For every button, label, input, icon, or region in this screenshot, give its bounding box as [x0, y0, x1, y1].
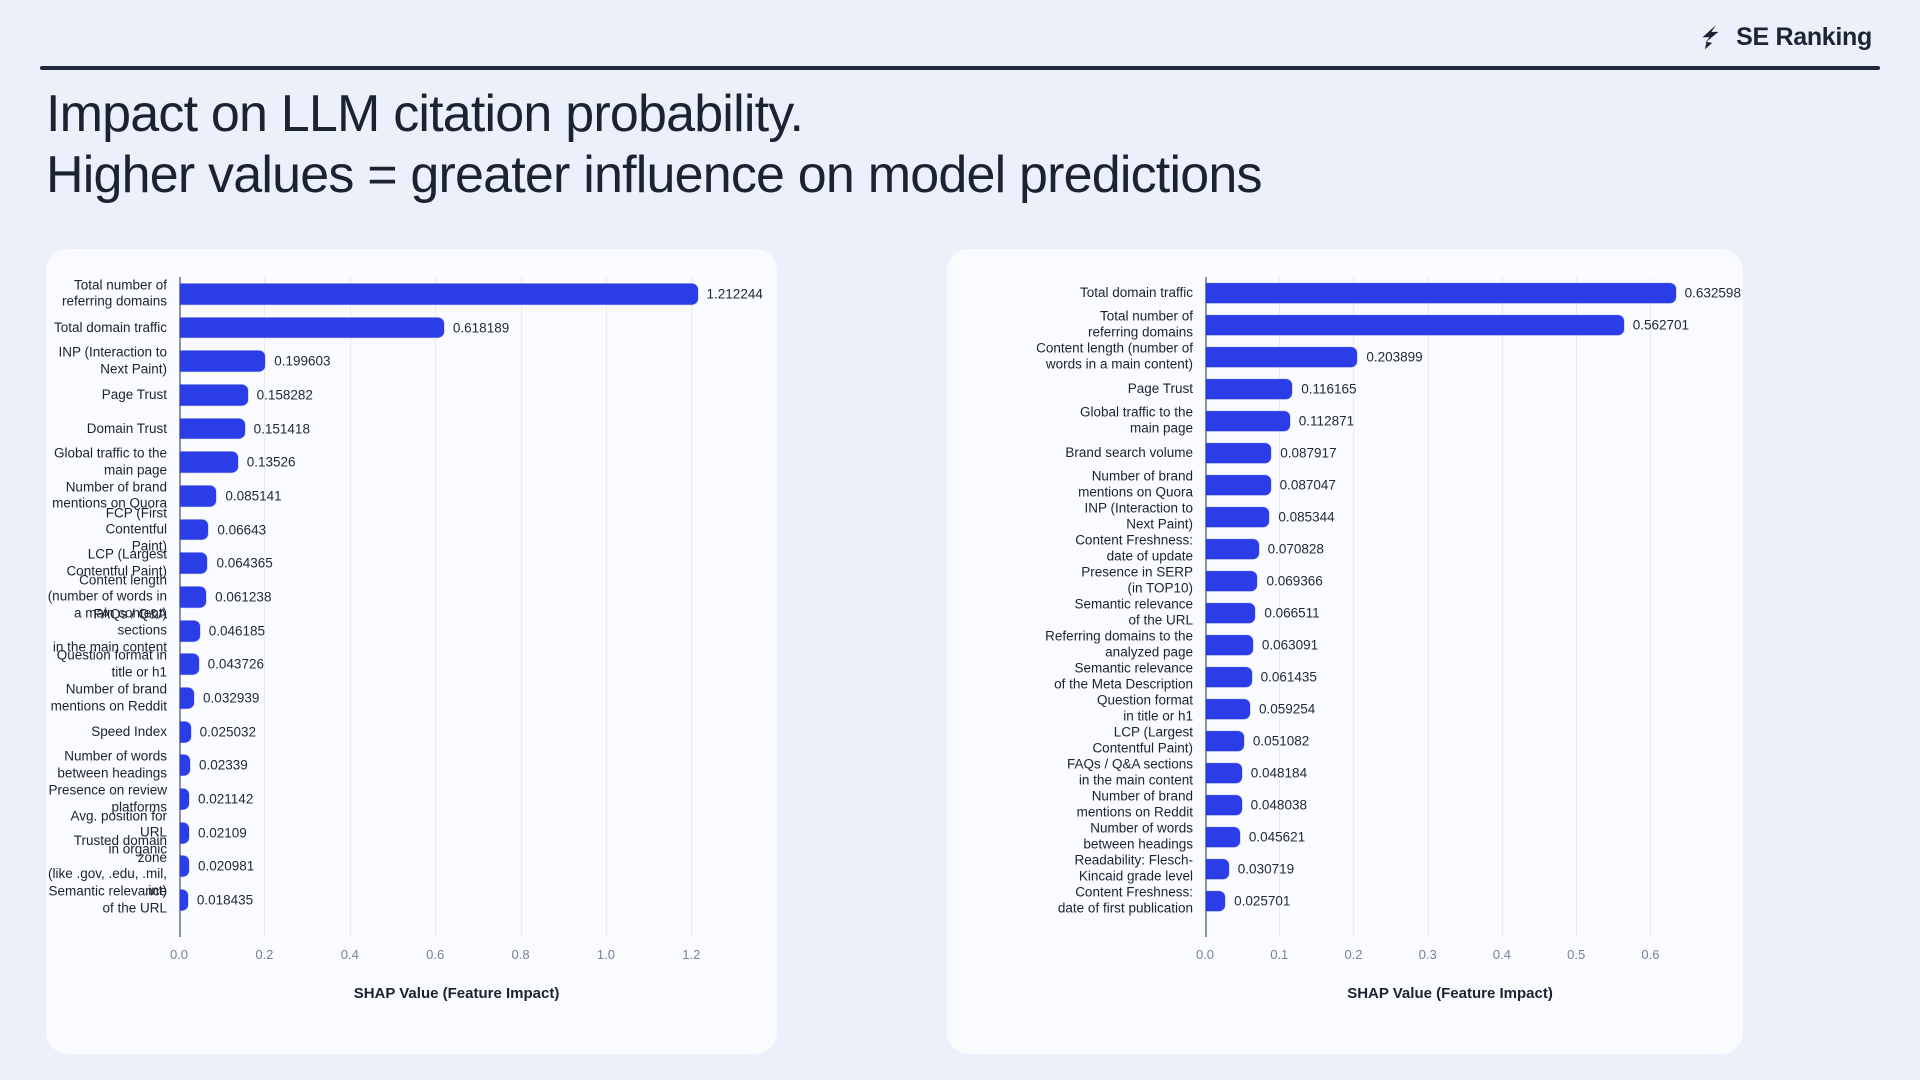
bar-value-label: 0.087047 — [1280, 478, 1336, 493]
bar-value-label: 0.112871 — [1299, 414, 1354, 429]
bar — [180, 755, 190, 776]
category-label: Total number of referring domains — [42, 277, 167, 310]
bar-value-label: 0.061435 — [1261, 670, 1317, 685]
bar — [1206, 763, 1242, 783]
category-label: Domain Trust — [42, 420, 167, 436]
bar — [180, 283, 698, 304]
page-title: Impact on LLM citation probability. High… — [46, 84, 1262, 207]
category-label: Total number of referring domains — [943, 309, 1193, 342]
category-label: Content Freshness: date of first publica… — [943, 885, 1193, 918]
bar-value-label: 0.069366 — [1266, 574, 1322, 589]
x-axis-tick: 0.6 — [426, 947, 444, 962]
bar-value-label: 0.032939 — [203, 691, 259, 706]
bar — [1206, 443, 1271, 463]
bar-value-label: 0.020981 — [198, 859, 254, 874]
chart-bar-row: Number of words between headings0.045621 — [1205, 821, 1695, 853]
category-label: INP (Interaction to Next Paint) — [943, 501, 1193, 534]
x-axis-tick: 1.2 — [682, 947, 700, 962]
bar — [1206, 795, 1242, 815]
bar-value-label: 0.158282 — [257, 387, 313, 402]
category-label: Content Freshness: date of update — [943, 533, 1193, 566]
chart-bar-row: Page Trust0.158282 — [179, 378, 734, 412]
bar — [180, 789, 189, 810]
chart-bar-row: INP (Interaction to Next Paint)0.199603 — [179, 344, 734, 378]
category-label: Number of brand mentions on Reddit — [42, 682, 167, 715]
bar — [1206, 667, 1252, 687]
chart-bar-row: Semantic relevance of the URL0.066511 — [1205, 597, 1695, 629]
chart-plot-aimode: Total domain traffic0.632598Total number… — [1205, 277, 1695, 917]
bar-value-label: 0.06643 — [217, 522, 266, 537]
category-label: Content length (number of words in a mai… — [943, 341, 1193, 374]
chart-bar-row: Global traffic to the main page0.13526 — [179, 445, 734, 479]
bar-value-label: 0.151418 — [254, 421, 310, 436]
bar-value-label: 0.051082 — [1253, 734, 1309, 749]
chart-bar-row: Number of brand mentions on Reddit0.0480… — [1205, 789, 1695, 821]
bar-value-label: 0.048038 — [1251, 798, 1307, 813]
bar — [180, 317, 444, 338]
category-label: Readability: Flesch- Kincaid grade level — [943, 853, 1193, 886]
chart-bar-row: Number of brand mentions on Reddit0.0329… — [179, 681, 734, 715]
bar — [180, 688, 194, 709]
chart-bar-row: Number of brand mentions on Quora0.08514… — [179, 479, 734, 513]
bar-value-label: 0.021142 — [198, 792, 253, 807]
bar — [180, 351, 265, 372]
bar — [180, 890, 188, 911]
chart-bar-row: Semantic relevance of the URL0.018435 — [179, 883, 734, 917]
category-label: Number of brand mentions on Reddit — [943, 789, 1193, 822]
x-axis-tick: 0.0 — [170, 947, 188, 962]
chart-bar-row: Number of words between headings0.02339 — [179, 749, 734, 783]
chart-bar-row: Global traffic to the main page0.112871 — [1205, 405, 1695, 437]
bar-value-label: 0.025032 — [200, 724, 256, 739]
chart-bar-row: Presence on review platforms0.021142 — [179, 782, 734, 816]
chart-bar-row: Total domain traffic0.618189 — [179, 311, 734, 345]
chart-bar-row: Speed Index0.025032 — [179, 715, 734, 749]
x-axis-label: SHAP Value (Feature Impact) — [179, 985, 734, 1002]
category-label: FAQs / Q&A sections in the main content — [943, 757, 1193, 790]
chart-card-aimode: Total domain traffic0.632598Total number… — [947, 249, 1743, 1054]
category-label: INP (Interaction to Next Paint) — [42, 345, 167, 378]
chart-bar-row: FAQs / Q&A sections in the main content0… — [179, 614, 734, 648]
bar — [180, 587, 206, 608]
bar — [1206, 507, 1269, 527]
chart-bar-row: Readability: Flesch- Kincaid grade level… — [1205, 853, 1695, 885]
bar — [1206, 891, 1225, 911]
chart-bar-row: Number of brand mentions on Quora0.08704… — [1205, 469, 1695, 501]
bar-value-label: 0.085344 — [1278, 510, 1334, 525]
bar-value-label: 0.562701 — [1633, 318, 1689, 333]
x-axis-tick: 0.8 — [511, 947, 529, 962]
bar-value-label: 0.02339 — [199, 758, 248, 773]
bar-value-label: 0.030719 — [1238, 862, 1294, 877]
x-axis-label: SHAP Value (Feature Impact) — [1205, 985, 1695, 1002]
x-axis-tick: 0.4 — [1493, 947, 1511, 962]
bar-value-label: 0.087917 — [1280, 446, 1336, 461]
bar — [180, 553, 207, 574]
chart-bar-row: Content length (number of words in a mai… — [179, 580, 734, 614]
chart-bar-row: Presence in SERP (in TOP10)0.069366 — [1205, 565, 1695, 597]
category-label: Global traffic to the main page — [943, 405, 1193, 438]
category-label: Question format in title or h1 — [42, 648, 167, 681]
bar — [180, 822, 189, 843]
chart-bar-row: Domain Trust0.151418 — [179, 412, 734, 446]
chart-bar-row: INP (Interaction to Next Paint)0.085344 — [1205, 501, 1695, 533]
chart-bar-row: FCP (First Contentful Paint)0.06643 — [179, 513, 734, 547]
bar-value-label: 0.046185 — [209, 623, 265, 638]
bar — [1206, 347, 1357, 367]
bar — [1206, 411, 1290, 431]
bar — [1206, 731, 1244, 751]
category-label: Semantic relevance of the Meta Descripti… — [943, 661, 1193, 694]
x-axis-tick: 0.0 — [1196, 947, 1214, 962]
category-label: Page Trust — [42, 387, 167, 403]
chart-bar-row: Content Freshness: date of update0.07082… — [1205, 533, 1695, 565]
bar-value-label: 0.045621 — [1249, 830, 1305, 845]
chart-bar-row: Avg. position for URL in organic0.02109 — [179, 816, 734, 850]
category-label: Number of words between headings — [943, 821, 1193, 854]
bar — [180, 856, 189, 877]
bar-value-label: 0.085141 — [225, 488, 281, 503]
chart-bar-row: Referring domains to the analyzed page0.… — [1205, 629, 1695, 661]
bar-value-label: 0.061238 — [215, 589, 271, 604]
bar — [180, 452, 238, 473]
bar — [1206, 603, 1255, 623]
bar-value-label: 0.025701 — [1234, 894, 1290, 909]
x-axis-tick: 0.2 — [1344, 947, 1362, 962]
bar — [1206, 283, 1676, 303]
bar — [1206, 635, 1253, 655]
x-axis-tick: 1.0 — [597, 947, 615, 962]
bar-value-label: 1.212244 — [707, 286, 763, 301]
x-axis-tick: 0.6 — [1641, 947, 1659, 962]
category-label: Question format in title or h1 — [943, 693, 1193, 726]
bar — [1206, 571, 1257, 591]
bar — [180, 721, 191, 742]
bar-value-label: 0.063091 — [1262, 638, 1318, 653]
bar — [1206, 827, 1240, 847]
bar — [180, 485, 216, 506]
chart-bar-row: Trusted domain zone (like .gov, .edu, .m… — [179, 850, 734, 884]
chart-bar-row: FAQs / Q&A sections in the main content0… — [1205, 757, 1695, 789]
brand-name: SE Ranking — [1736, 25, 1872, 50]
chart-card-chatgpt: Total number of referring domains1.21224… — [46, 249, 777, 1054]
chart-bar-row: Question format in title or h10.059254 — [1205, 693, 1695, 725]
poster-root: SE Ranking Impact on LLM citation probab… — [0, 0, 1920, 1080]
x-axis-tick: 0.3 — [1419, 947, 1437, 962]
bar-value-label: 0.13526 — [247, 455, 296, 470]
bar-value-label: 0.116165 — [1301, 382, 1356, 397]
category-label: Number of brand mentions on Quora — [943, 469, 1193, 502]
category-label: Referring domains to the analyzed page — [943, 629, 1193, 662]
category-label: Page Trust — [943, 381, 1193, 397]
bar — [1206, 699, 1250, 719]
category-label: Number of words between headings — [42, 749, 167, 782]
bar-value-label: 0.066511 — [1264, 606, 1319, 621]
chart-bar-row: Total number of referring domains1.21224… — [179, 277, 734, 311]
bar-value-label: 0.199603 — [274, 354, 330, 369]
category-label: Global traffic to the main page — [42, 446, 167, 479]
bar — [180, 620, 200, 641]
chart-bar-row: Total number of referring domains0.56270… — [1205, 309, 1695, 341]
bar-value-label: 0.059254 — [1259, 702, 1315, 717]
chart-plot-chatgpt: Total number of referring domains1.21224… — [179, 277, 734, 917]
bar — [180, 418, 245, 439]
category-label: Semantic relevance of the URL — [943, 597, 1193, 630]
chart-bar-row: Semantic relevance of the Meta Descripti… — [1205, 661, 1695, 693]
bar-value-label: 0.203899 — [1366, 350, 1422, 365]
bar-value-label: 0.043726 — [208, 657, 264, 672]
category-label: Total domain traffic — [943, 285, 1193, 301]
bar-value-label: 0.632598 — [1685, 286, 1741, 301]
bar — [1206, 475, 1271, 495]
bar — [180, 654, 199, 675]
chart-bar-row: Content Freshness: date of first publica… — [1205, 885, 1695, 917]
x-axis-tick: 0.5 — [1567, 947, 1585, 962]
chart-bar-row: LCP (Largest Contentful Paint)0.064365 — [179, 546, 734, 580]
category-label: Presence in SERP (in TOP10) — [943, 565, 1193, 598]
x-axis-tick: 0.2 — [255, 947, 273, 962]
bar — [1206, 859, 1229, 879]
category-label: Brand search volume — [943, 445, 1193, 461]
category-label: Semantic relevance of the URL — [42, 884, 167, 917]
chart-bar-row: Question format in title or h10.043726 — [179, 648, 734, 682]
chart-bar-row: LCP (Largest Contentful Paint)0.051082 — [1205, 725, 1695, 757]
bar-value-label: 0.02109 — [198, 825, 247, 840]
bar — [1206, 379, 1292, 399]
bar — [180, 384, 248, 405]
chart-bar-row: Total domain traffic0.632598 — [1205, 277, 1695, 309]
bar — [180, 519, 208, 540]
chart-bar-row: Content length (number of words in a mai… — [1205, 341, 1695, 373]
bar — [1206, 315, 1624, 335]
x-axis-tick: 0.4 — [341, 947, 359, 962]
bar-value-label: 0.070828 — [1268, 542, 1324, 557]
bar-value-label: 0.018435 — [197, 893, 253, 908]
brand-logo: SE Ranking — [1696, 22, 1872, 52]
bar-value-label: 0.048184 — [1251, 766, 1307, 781]
bar — [1206, 539, 1259, 559]
category-label: Total domain traffic — [42, 319, 167, 335]
header-divider — [40, 66, 1880, 70]
chart-bar-row: Brand search volume0.087917 — [1205, 437, 1695, 469]
header: SE Ranking — [0, 0, 1920, 70]
category-label: LCP (Largest Contentful Paint) — [943, 725, 1193, 758]
bar-value-label: 0.064365 — [216, 556, 272, 571]
category-label: Speed Index — [42, 723, 167, 739]
bar-value-label: 0.618189 — [453, 320, 509, 335]
chart-bar-row: Page Trust0.116165 — [1205, 373, 1695, 405]
x-axis-tick: 0.1 — [1270, 947, 1288, 962]
lightning-bolt-icon — [1696, 22, 1726, 52]
